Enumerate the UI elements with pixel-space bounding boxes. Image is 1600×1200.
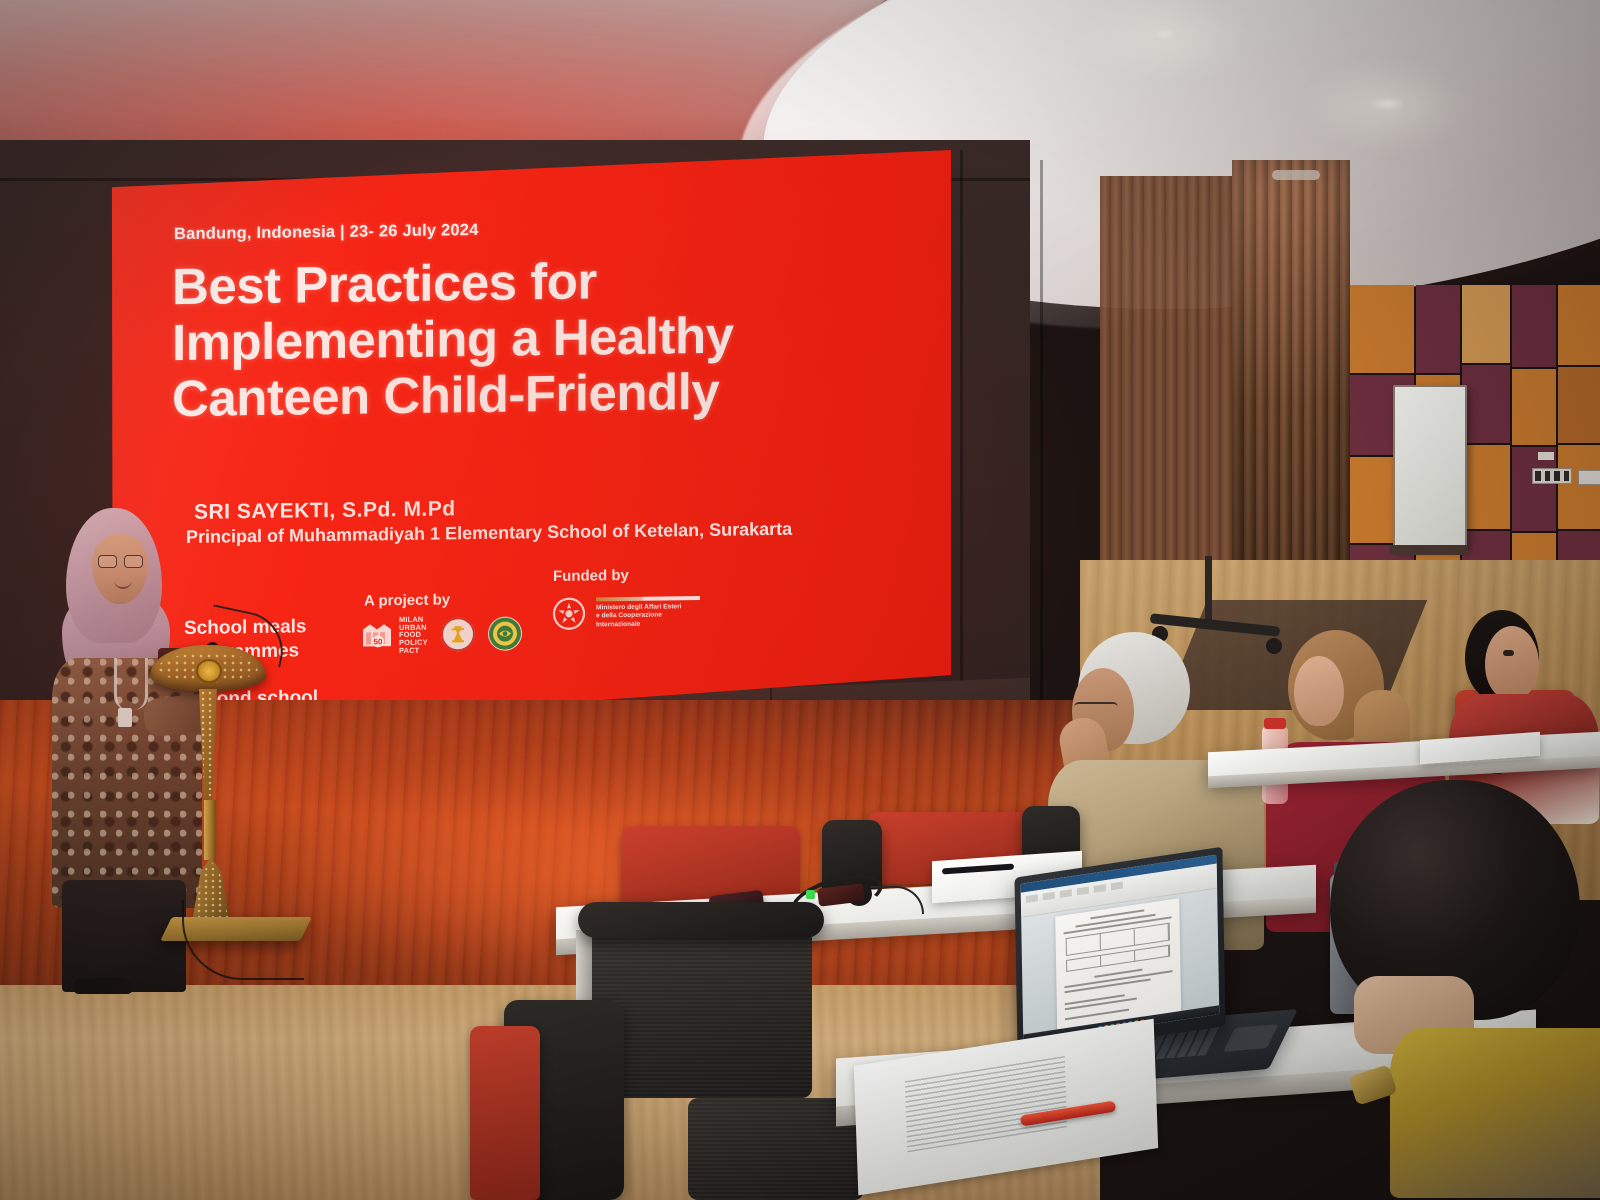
caster-wheel-icon [1266, 638, 1282, 654]
ceiling-downlight-icon [1370, 98, 1404, 110]
chair-office-foreground[interactable] [592, 918, 812, 1098]
podium-emblem [196, 659, 222, 683]
presenter-lanyard [114, 658, 148, 710]
light-switch-panel-secondary[interactable] [1578, 470, 1600, 485]
presenter-shoe [74, 978, 132, 994]
presenter-eyeglasses-icon [98, 555, 142, 568]
light-switch-panel[interactable] [1532, 468, 1572, 484]
laptop-trackpad[interactable] [1223, 1024, 1278, 1052]
headset-status-led-icon [806, 890, 815, 899]
attendee-eyeglasses-icon [1074, 702, 1118, 716]
attendee-eye [1503, 650, 1514, 656]
presenter-name-badge [118, 708, 132, 727]
flipchart-stand-pole [1205, 556, 1212, 626]
whiteboard-tray [1390, 545, 1468, 555]
whiteboard [1393, 385, 1467, 549]
bottle-cap [1264, 718, 1286, 729]
wall-seam [1040, 160, 1043, 720]
slat-column-light-icon [1272, 170, 1320, 180]
wall-seam [960, 150, 963, 750]
chair-red-foreground[interactable] [470, 1026, 540, 1200]
laptop-screen [1021, 855, 1220, 1044]
ceiling-downlight-icon [1148, 28, 1182, 40]
podium-stem [204, 800, 216, 860]
conference-room-photo: Bandung, Indonesia | 23- 26 July 2024 Be… [0, 0, 1600, 1200]
wall-label [1538, 452, 1554, 460]
chair-headrest [578, 902, 824, 938]
